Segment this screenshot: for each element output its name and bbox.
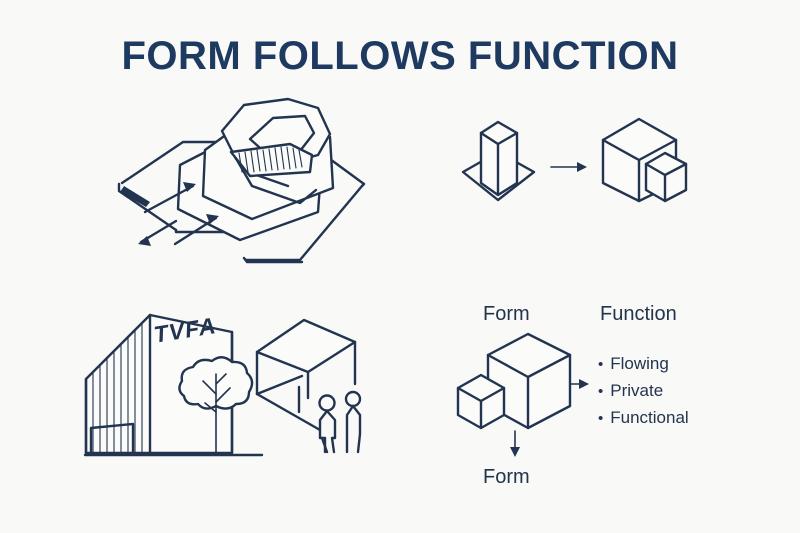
arrow-to-form xyxy=(510,431,520,457)
flowing-form-sketch xyxy=(117,99,364,262)
bullet-label: Flowing xyxy=(610,351,669,377)
person-left xyxy=(320,396,336,453)
tower-volume xyxy=(481,122,517,195)
label-function: Function xyxy=(600,303,677,326)
person-right xyxy=(346,392,360,452)
list-item: • Private xyxy=(598,378,689,405)
people-figures xyxy=(320,392,361,452)
bullet-marker-icon: • xyxy=(598,406,603,432)
block-small xyxy=(646,153,686,201)
pavilion-canopy xyxy=(257,320,355,430)
function-bullet-list: • Flowing • Private • Functional xyxy=(598,351,689,432)
cube-small xyxy=(458,375,504,428)
list-item: • Flowing xyxy=(598,351,689,378)
bullet-marker-icon: • xyxy=(598,352,603,378)
form-function-diagram xyxy=(458,334,589,457)
poster-canvas: FORM FOLLOWS FUNCTION xyxy=(0,0,800,533)
illustration-layer xyxy=(0,0,800,533)
bullet-label: Functional xyxy=(610,405,688,431)
arrow-to-function xyxy=(570,379,589,389)
bullet-marker-icon: • xyxy=(598,379,603,405)
tower-to-blocks-diagram xyxy=(463,119,686,201)
entry-marker xyxy=(120,186,150,207)
transform-arrow-icon xyxy=(551,162,587,172)
bullet-label: Private xyxy=(610,378,663,404)
list-item: • Functional xyxy=(598,405,689,432)
label-form-top: Form xyxy=(483,303,530,326)
label-form-bottom: Form xyxy=(483,466,530,489)
building-context-sketch xyxy=(85,315,360,455)
